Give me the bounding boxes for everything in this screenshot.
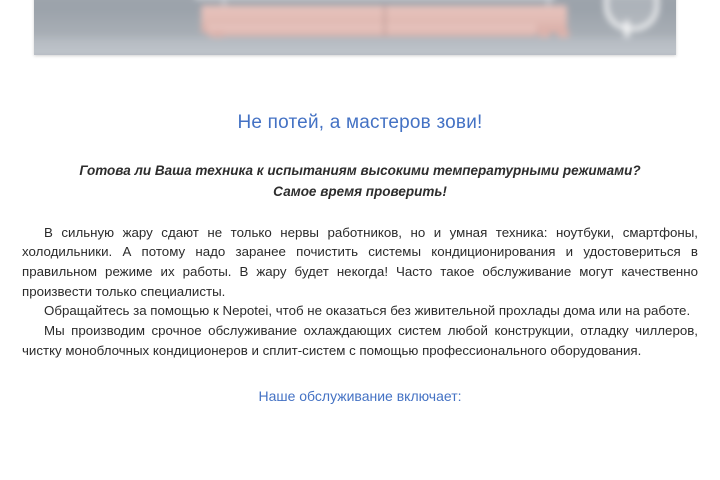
section-heading-services: Наше обслуживание включает: (0, 360, 720, 405)
subtitle: Готова ли Ваша техника к испытаниям высо… (0, 135, 720, 203)
subtitle-line-2: Самое время проверить! (273, 184, 447, 199)
header-hero-image (34, 0, 676, 55)
paragraph: В сильную жару сдают не только нервы раб… (22, 223, 698, 302)
article-content: Не потей, а мастеров зови! Готова ли Ваш… (0, 55, 720, 405)
hero-floor (34, 37, 676, 55)
hero-sofa-divider (384, 5, 386, 35)
hero-photo-blur-layer (34, 0, 676, 55)
hero-sofa-seat (208, 25, 537, 37)
paragraph: Мы производим срочное обслуживание охлаж… (22, 321, 698, 360)
paragraph: Обращайтесь за помощью к Nepotei, чтоб н… (22, 301, 698, 321)
newsletter-page: Не потей, а мастеров зови! Готова ли Ваш… (0, 0, 720, 480)
subtitle-line-1: Готова ли Ваша техника к испытаниям высо… (79, 163, 640, 178)
page-title: Не потей, а мастеров зови! (0, 55, 720, 135)
body-paragraphs: В сильную жару сдают не только нервы раб… (0, 203, 720, 361)
